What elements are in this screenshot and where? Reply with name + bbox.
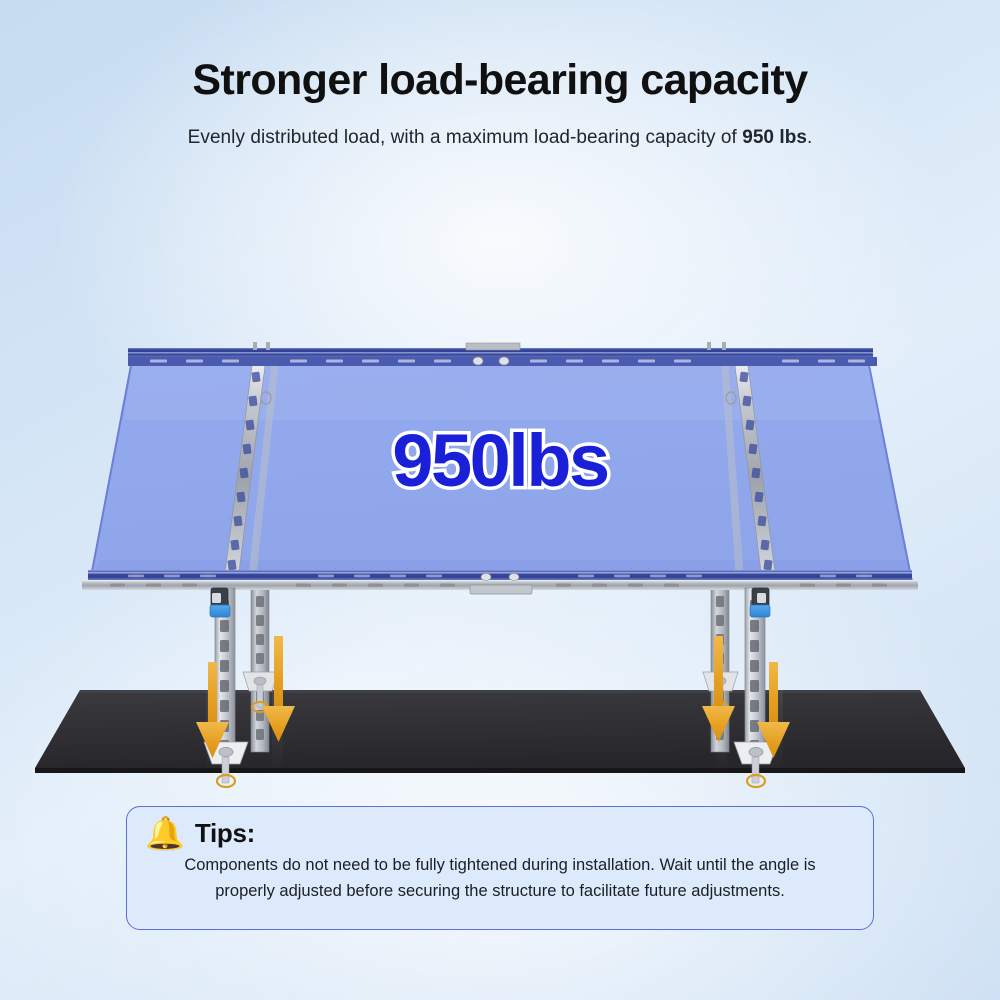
top-rail — [128, 342, 877, 366]
subtitle-highlight: 950 lbs — [742, 127, 807, 148]
ground-mat — [35, 690, 965, 773]
leg-clamp-right — [750, 588, 770, 617]
subtitle-prefix: Evenly distributed load, with a maximum … — [188, 127, 743, 148]
tips-title: Tips: — [195, 818, 255, 849]
bottom-rail — [82, 570, 918, 594]
load-capacity-label: 950lbs — [0, 424, 1000, 498]
header: Stronger load-bearing capacity Evenly di… — [0, 0, 1000, 149]
subtitle-suffix: . — [807, 127, 812, 148]
tips-header: 🔔 Tips: — [127, 807, 873, 849]
leg-front-right — [734, 588, 778, 787]
page-subtitle: Evenly distributed load, with a maximum … — [0, 127, 1000, 149]
page-title: Stronger load-bearing capacity — [0, 56, 1000, 104]
tips-box: 🔔 Tips: Components do not need to be ful… — [126, 806, 874, 930]
load-arrow-left-inner — [262, 636, 295, 742]
leg-rear-left — [243, 586, 278, 752]
top-centre-bracket — [466, 343, 520, 365]
bell-icon: 🔔 — [145, 817, 185, 849]
load-arrow-left-outer — [196, 662, 229, 758]
infographic-page: Stronger load-bearing capacity Evenly di… — [0, 0, 1000, 1000]
leg-shadows — [206, 690, 783, 768]
load-capacity-value: 950lbs — [392, 424, 607, 498]
load-arrows — [196, 636, 790, 758]
load-arrow-right-inner — [702, 636, 735, 742]
leg-clamp-left — [210, 588, 230, 617]
rear-legs — [243, 586, 738, 752]
front-legs — [204, 588, 778, 787]
tips-body: Components do not need to be fully tight… — [127, 853, 873, 904]
load-arrow-right-outer — [757, 662, 790, 758]
bottom-centre-bracket — [470, 574, 532, 595]
leg-rear-right — [703, 586, 738, 752]
top-rail-bolts — [253, 342, 726, 350]
leg-front-left — [204, 588, 248, 787]
